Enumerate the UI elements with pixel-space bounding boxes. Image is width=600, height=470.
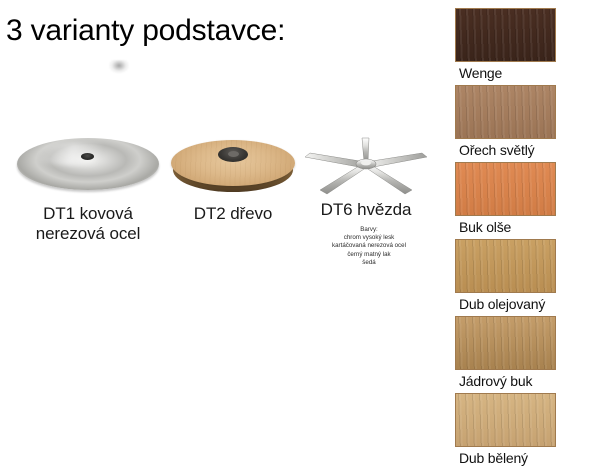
swatch-label-buk-olse: Buk olše — [455, 216, 556, 239]
swatch-item-jadrovy-buk[interactable]: Jádrový buk — [455, 316, 556, 393]
swatch-label-dub-beleny: Dub bělený — [455, 447, 556, 470]
swatch-color-dub-beleny[interactable] — [455, 393, 556, 447]
wood-disc-hub-center — [228, 151, 239, 157]
base-caption-dt6: DT6 hvězda — [300, 200, 432, 220]
swatch-grain — [455, 8, 556, 62]
dt6-color-option-3: černý matný lak — [310, 251, 428, 259]
swatch-label-orech-svetly: Ořech světlý — [455, 139, 556, 162]
swatch-grain — [455, 393, 556, 447]
base-caption-dt2: DT2 dřevo — [168, 204, 298, 224]
swatch-color-dub-olejovany[interactable] — [455, 239, 556, 293]
slide-canvas: 3 varianty podstavce: DT1 kovová nerezov… — [0, 0, 600, 450]
swatch-color-jadrovy-buk[interactable] — [455, 316, 556, 370]
metal-disc-hub — [81, 153, 94, 160]
swatch-label-jadrovy-buk: Jádrový buk — [455, 370, 556, 393]
swatch-grain — [455, 162, 556, 216]
dt6-color-option-1: chrom vysoký lesk — [310, 234, 428, 242]
dt6-color-option-4: šedá — [310, 259, 428, 267]
scan-artifact — [108, 60, 130, 74]
swatch-item-dub-beleny[interactable]: Dub bělený — [455, 393, 556, 470]
dt6-color-option-2: kartáčovaná nerezová ocel — [310, 242, 428, 250]
wood-finish-swatch-list: Wenge Ořech světlý Buk olše Dub olejovan… — [455, 8, 556, 470]
base-caption-dt1: DT1 kovová nerezová ocel — [8, 204, 168, 244]
dt6-colors-note: Barvy: chrom vysoký lesk kartáčovaná ner… — [310, 226, 428, 267]
swatch-item-buk-olse[interactable]: Buk olše — [455, 162, 556, 239]
swatch-grain — [455, 316, 556, 370]
wood-disc-base-icon — [171, 136, 295, 198]
base-option-dt2[interactable]: DT2 dřevo — [168, 136, 298, 224]
page-title: 3 varianty podstavce: — [6, 14, 285, 48]
swatch-item-dub-olejovany[interactable]: Dub olejovaný — [455, 239, 556, 316]
swatch-grain — [455, 239, 556, 293]
swatch-label-wenge: Wenge — [455, 62, 556, 85]
base-option-dt6[interactable]: DT6 hvězda — [300, 132, 432, 220]
swatch-color-orech-svetly[interactable] — [455, 85, 556, 139]
swatch-label-dub-olejovany: Dub olejovaný — [455, 293, 556, 316]
swatch-color-buk-olse[interactable] — [455, 162, 556, 216]
dt6-colors-heading: Barvy: — [310, 226, 428, 234]
base-option-dt1[interactable]: DT1 kovová nerezová ocel — [8, 136, 168, 244]
metal-disc-base-icon — [17, 136, 159, 198]
swatch-color-wenge[interactable] — [455, 8, 556, 62]
swatch-item-wenge[interactable]: Wenge — [455, 8, 556, 85]
star-base-icon — [300, 132, 432, 198]
swatch-grain — [455, 85, 556, 139]
swatch-item-orech-svetly[interactable]: Ořech světlý — [455, 85, 556, 162]
